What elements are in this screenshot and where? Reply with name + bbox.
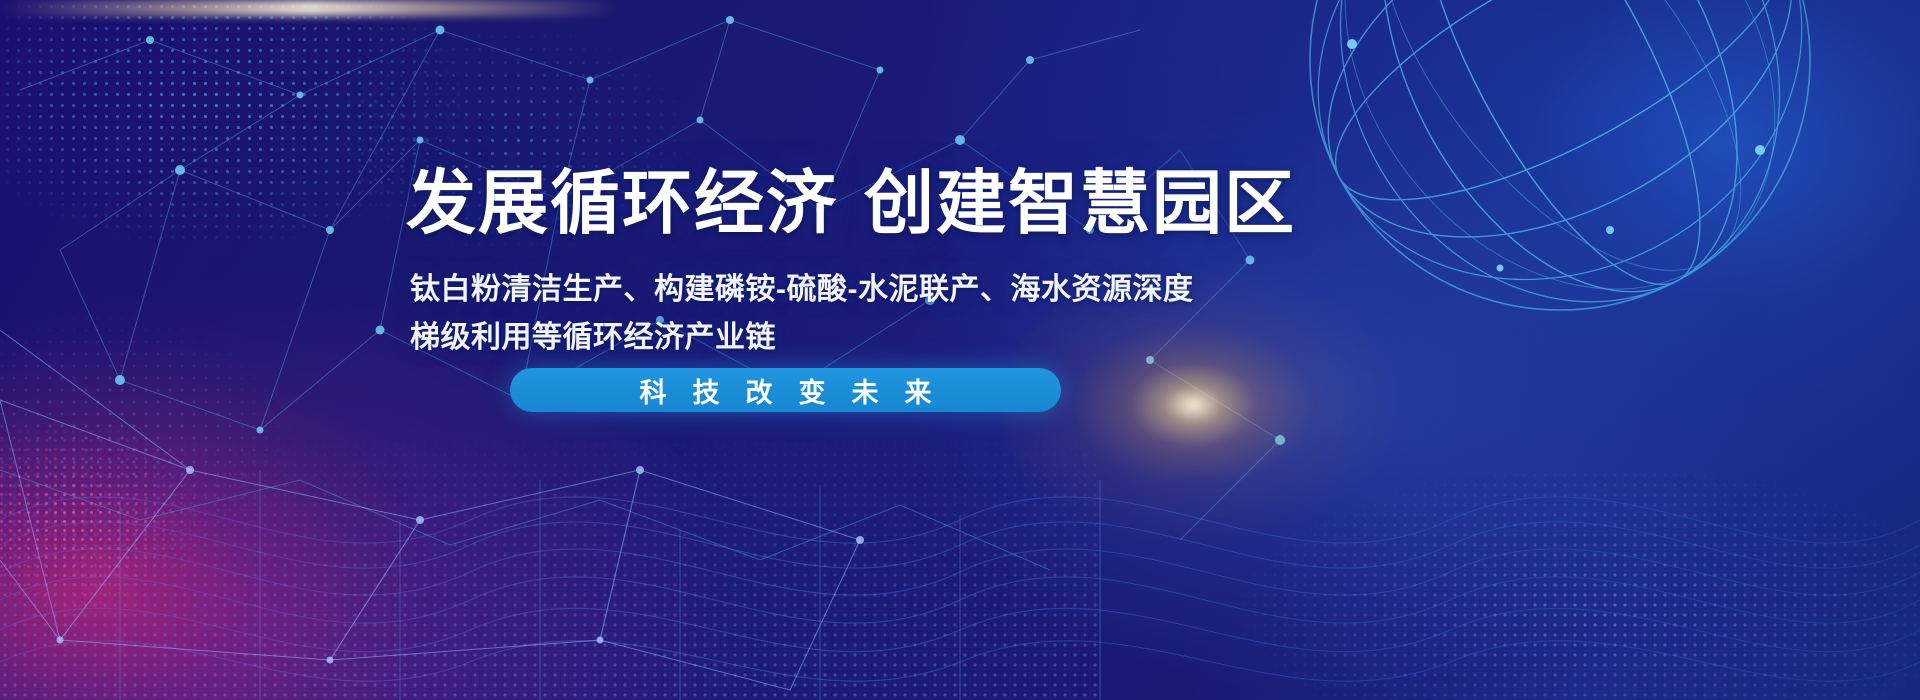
cta-button-label: 科技改变未来 [614, 371, 958, 410]
cta-button[interactable]: 科技改变未来 [510, 368, 1061, 412]
page-title: 发展循环经济创建智慧园区 [406, 168, 1296, 238]
banner-content: 发展循环经济创建智慧园区 钛白粉清洁生产、构建磷铵-硫酸-水泥联产、海水资源深度… [0, 0, 1920, 700]
subtitle-line-1: 钛白粉清洁生产、构建磷铵-硫酸-水泥联产、海水资源深度 [410, 264, 1193, 308]
headline-part-1: 发展循环经济 [406, 164, 838, 242]
subtitle-line-2: 梯级利用等循环经济产业链 [410, 312, 776, 356]
headline-part-2: 创建智慧园区 [864, 164, 1296, 242]
hero-banner: 发展循环经济创建智慧园区 钛白粉清洁生产、构建磷铵-硫酸-水泥联产、海水资源深度… [0, 0, 1920, 700]
